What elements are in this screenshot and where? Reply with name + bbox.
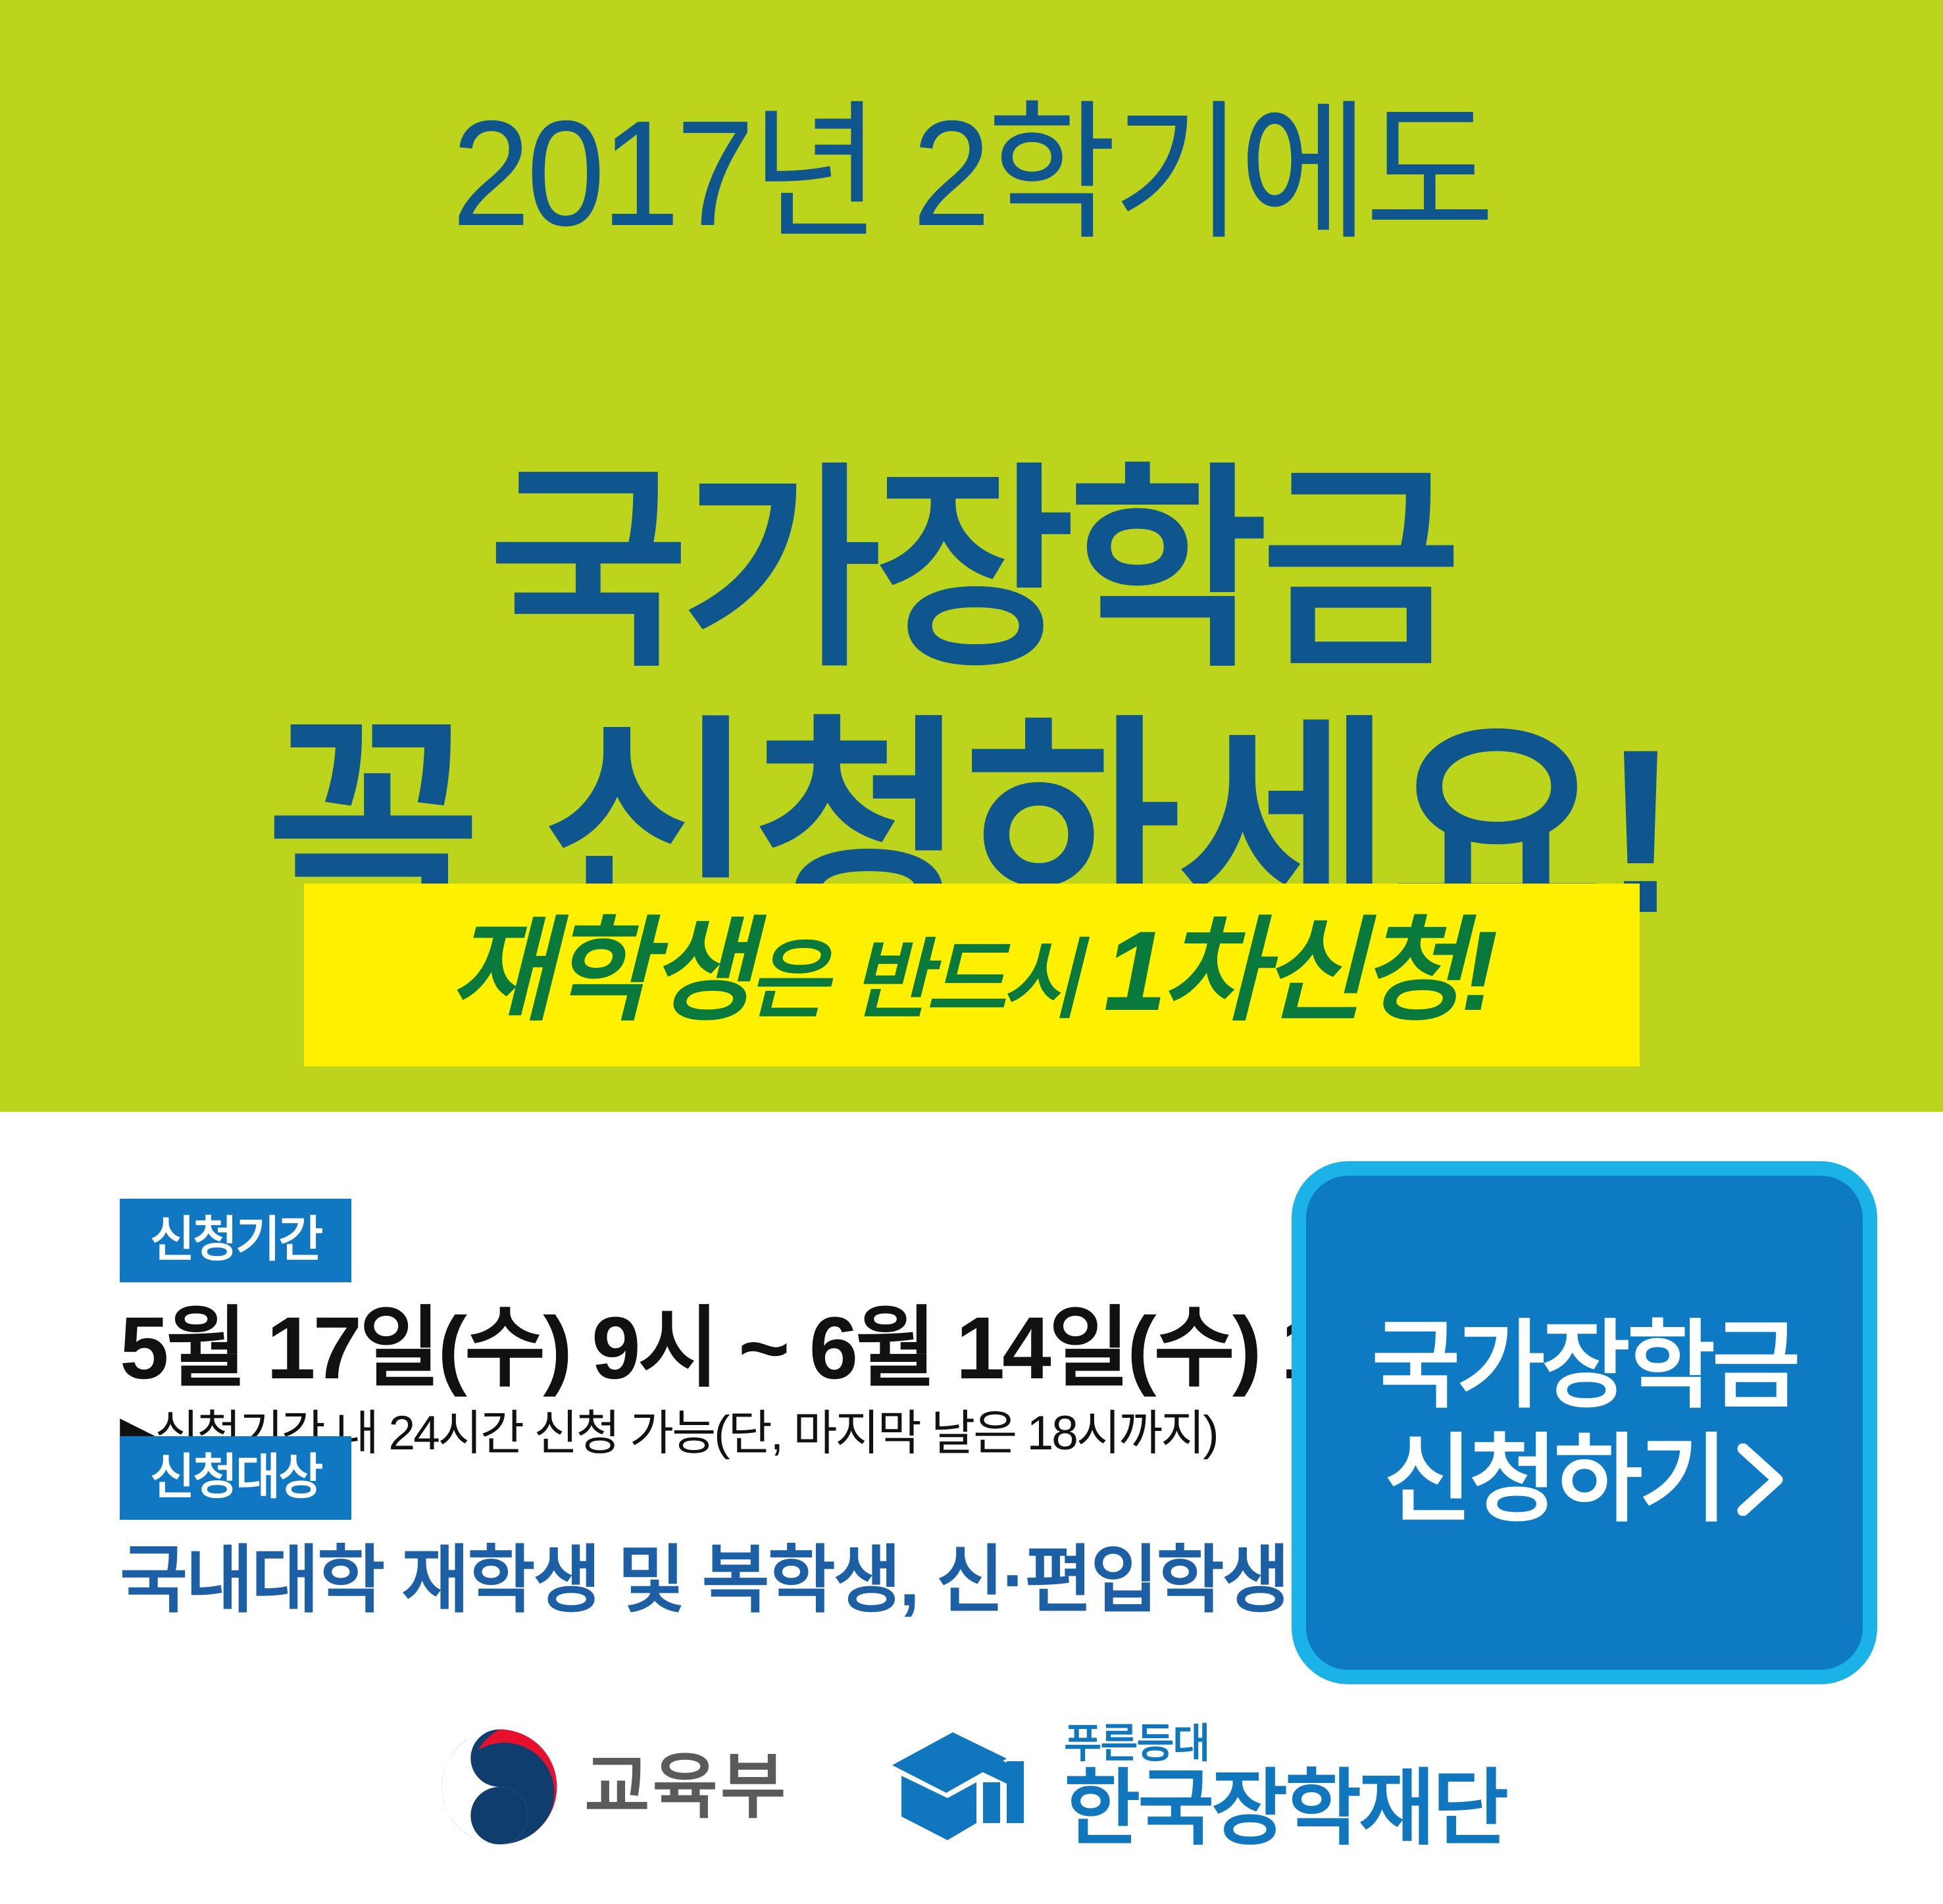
status-badge-application-target: 신청대상 — [120, 1436, 351, 1520]
highlight-mid: 반드시 — [851, 932, 1076, 1028]
highlight-particle: 은 — [749, 932, 824, 1028]
info-section: 신청기간 5월 17일(수) 9시 ~ 6월 14일(수) 18시 ▶신청기간 … — [0, 1112, 1943, 1904]
kosaf-logo: 푸른등대 한국장학재단 — [887, 1724, 1506, 1850]
korea-government-taegeuk-emblem-icon — [437, 1724, 562, 1849]
application-period-dates: 5월 17일(수) 9시 ~ 6월 14일(수) 18시 — [120, 1299, 1452, 1398]
application-period-block: 신청기간 5월 17일(수) 9시 ~ 6월 14일(수) 18시 ▶신청기간 … — [120, 1199, 1452, 1460]
graduation-cap-icon — [887, 1724, 1042, 1849]
highlight-lead: 재학생 — [450, 908, 749, 1034]
hero-section: 2017년 2학기에도 국가장학금 꼭 신청하세요! 재학생은 반드시 1차신청… — [0, 0, 1943, 1112]
apply-button-line-1: 국가장학금 — [1372, 1309, 1798, 1422]
chevron-right-icon — [1736, 1443, 1785, 1516]
government-name: 교육부 — [584, 1751, 788, 1822]
highlight-callout-text: 재학생은 반드시 1차신청! — [450, 914, 1494, 1028]
apply-button-line-2-row: 신청하기 — [1384, 1423, 1784, 1536]
hero-kicker: 2017년 2학기에도 — [59, 99, 1885, 249]
highlight-tail: 1차신청! — [1103, 908, 1494, 1034]
apply-button-line-2: 신청하기 — [1384, 1423, 1724, 1536]
government-logo: 교육부 — [437, 1724, 788, 1849]
kosaf-name: 한국장학재단 — [1064, 1767, 1506, 1850]
application-target-text: 국내대학 재학생 및 복학생, 신·편입학생 — [120, 1540, 1288, 1620]
status-badge-application-period: 신청기간 — [120, 1199, 351, 1282]
application-target-block: 신청대상 국내대학 재학생 및 복학생, 신·편입학생 — [120, 1436, 1288, 1620]
highlight-callout-box: 재학생은 반드시 1차신청! — [304, 884, 1640, 1066]
footer-logos: 교육부 푸른등대 한국장학재단 — [0, 1724, 1943, 1850]
apply-scholarship-button[interactable]: 국가장학금 신청하기 — [1292, 1161, 1877, 1684]
kosaf-wordmark: 푸른등대 한국장학재단 — [1064, 1724, 1506, 1850]
page-title-line-1: 국가장학금 — [489, 449, 1455, 691]
scholarship-announcement-banner: 2017년 2학기에도 국가장학금 꼭 신청하세요! 재학생은 반드시 1차신청… — [0, 0, 1943, 1904]
kosaf-sub-name: 푸른등대 — [1064, 1724, 1209, 1765]
